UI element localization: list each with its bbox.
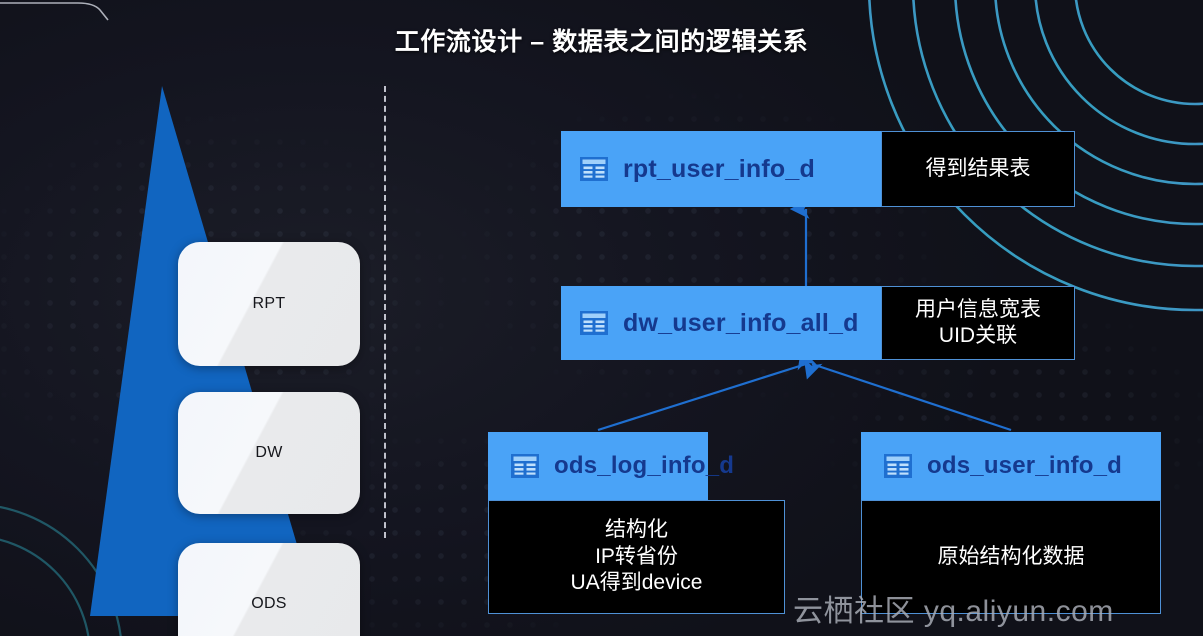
node-header: ods_log_info_d (488, 432, 708, 500)
table-icon (510, 453, 540, 479)
pyramid-layer-dw-label: DW (255, 444, 282, 462)
flow-node-dw-user-info-all-d[interactable]: dw_user_info_all_d (561, 286, 881, 360)
watermark: 云栖社区 yq.aliyun.com (793, 586, 1114, 630)
section-divider (384, 86, 386, 538)
desc-line: IP转省份 (595, 544, 678, 570)
slide-canvas: 工作流设计 – 数据表之间的逻辑关系 RPT DW ODS (0, 0, 1203, 636)
node-name-label: ods_user_info_d (927, 452, 1122, 480)
note-line: 用户信息宽表 (915, 297, 1041, 323)
node-name-label: rpt_user_info_d (623, 155, 815, 184)
node-header: dw_user_info_all_d (561, 286, 881, 360)
pyramid-layer-ods[interactable]: ODS (178, 543, 360, 636)
pyramid-layer-dw[interactable]: DW (178, 392, 360, 514)
desc-line: UA得到device (571, 570, 703, 596)
desc-line: 原始结构化数据 (938, 544, 1085, 570)
pyramid-layer-rpt[interactable]: RPT (178, 242, 360, 366)
table-icon (579, 156, 609, 182)
flow-node-rpt-user-info-d[interactable]: rpt_user_info_d (561, 131, 881, 207)
flow-node-ods-user-info-d[interactable]: ods_user_info_d (861, 432, 1161, 500)
node-header: rpt_user_info_d (561, 131, 881, 207)
layer-pyramid: RPT DW ODS (28, 84, 348, 618)
pyramid-layer-rpt-label: RPT (253, 295, 286, 313)
note-line: UID关联 (939, 323, 1017, 349)
node-name-label: ods_log_info_d (554, 452, 734, 480)
table-icon (883, 453, 913, 479)
node-name-label: dw_user_info_all_d (623, 309, 859, 338)
page-title: 工作流设计 – 数据表之间的逻辑关系 (0, 22, 1203, 58)
note-line: 得到结果表 (926, 156, 1031, 182)
table-icon (579, 310, 609, 336)
node-header: ods_user_info_d (861, 432, 1161, 500)
pyramid-layer-ods-label: ODS (251, 595, 287, 613)
flow-node-ods-log-info-d[interactable]: ods_log_info_d (488, 432, 708, 500)
desc-line: 结构化 (605, 517, 668, 543)
note-box-dw: 用户信息宽表 UID关联 (881, 286, 1075, 360)
desc-box-ods-log: 结构化 IP转省份 UA得到device (488, 500, 785, 614)
note-box-rpt: 得到结果表 (881, 131, 1075, 207)
